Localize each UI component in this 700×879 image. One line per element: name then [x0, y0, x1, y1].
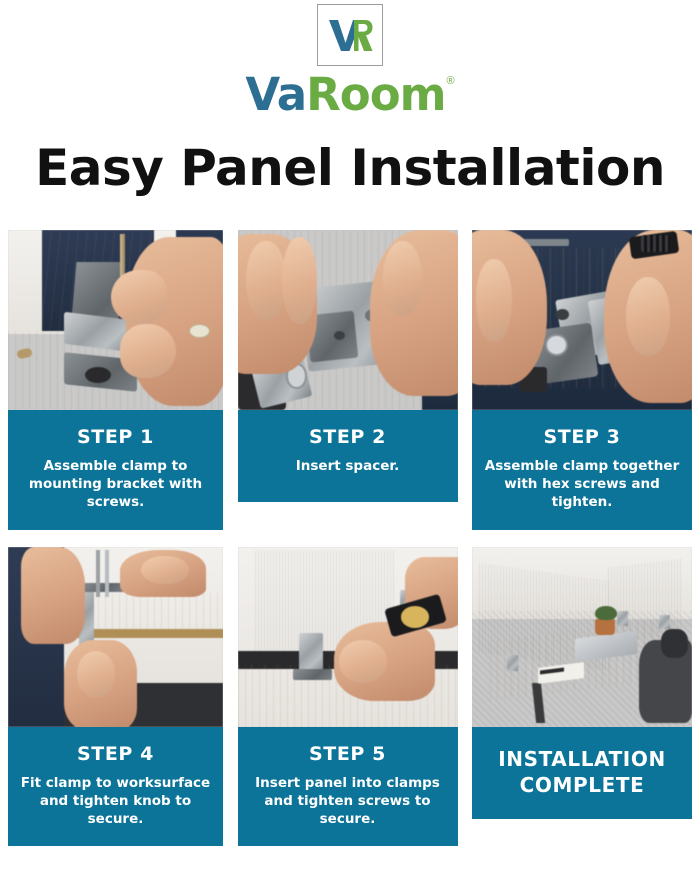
step-card-1[interactable]: STEP 1 Assemble clamp to mounting bracke…	[8, 230, 223, 530]
complete-line-1: INSTALLATION	[498, 747, 666, 771]
registered-trademark-symbol: ®	[447, 76, 455, 87]
wordmark-room: Room	[306, 72, 445, 117]
grid-gutter-2	[458, 230, 473, 530]
varoom-wordmark: Va Room ®	[245, 72, 454, 117]
grid-gutter-3	[223, 547, 238, 847]
step-photo-3	[472, 230, 692, 410]
step-caption-2: STEP 2 Insert spacer.	[238, 410, 458, 502]
step-caption-complete: INSTALLATION COMPLETE	[472, 727, 692, 819]
step-caption-4: STEP 4 Fit clamp to worksurface and tigh…	[8, 727, 223, 847]
step-caption-1: STEP 1 Assemble clamp to mounting bracke…	[8, 410, 223, 530]
step-label-4: STEP 4	[18, 743, 213, 765]
wordmark-va: Va	[245, 72, 306, 117]
vr-logo-mark	[317, 4, 383, 66]
step-label-5: STEP 5	[248, 743, 448, 765]
step-label-2: STEP 2	[248, 426, 448, 448]
step-photo-complete	[472, 547, 692, 727]
step-text-5: Insert panel into clamps and tighten scr…	[248, 774, 448, 829]
installation-complete-text: INSTALLATION COMPLETE	[498, 746, 666, 798]
step-label-1: STEP 1	[18, 426, 213, 448]
step-photo-2	[238, 230, 458, 410]
step-text-3: Assemble clamp together with hex screws …	[482, 457, 682, 512]
step-card-4[interactable]: STEP 4 Fit clamp to worksurface and tigh…	[8, 547, 223, 847]
step-photo-5	[238, 547, 458, 727]
vr-monogram-icon	[327, 18, 373, 52]
step-text-4: Fit clamp to worksurface and tighten kno…	[18, 774, 213, 829]
step-card-6[interactable]: INSTALLATION COMPLETE	[472, 547, 692, 847]
page-title: Easy Panel Installation	[0, 139, 700, 197]
grid-gutter-1	[223, 230, 238, 530]
brand-header: Va Room ®	[0, 0, 700, 117]
step-label-3: STEP 3	[482, 426, 682, 448]
step-photo-4	[8, 547, 223, 727]
step-caption-5: STEP 5 Insert panel into clamps and tigh…	[238, 727, 458, 847]
step-caption-3: STEP 3 Assemble clamp together with hex …	[472, 410, 692, 530]
step-card-5[interactable]: STEP 5 Insert panel into clamps and tigh…	[238, 547, 458, 847]
step-card-2[interactable]: STEP 2 Insert spacer.	[238, 230, 458, 530]
step-card-3[interactable]: STEP 3 Assemble clamp together with hex …	[472, 230, 692, 530]
step-text-2: Insert spacer.	[248, 457, 448, 475]
grid-gutter-4	[458, 547, 473, 847]
steps-grid: STEP 1 Assemble clamp to mounting bracke…	[8, 230, 692, 846]
complete-line-2: COMPLETE	[520, 773, 645, 797]
step-text-1: Assemble clamp to mounting bracket with …	[18, 457, 213, 512]
step-photo-1	[8, 230, 223, 410]
